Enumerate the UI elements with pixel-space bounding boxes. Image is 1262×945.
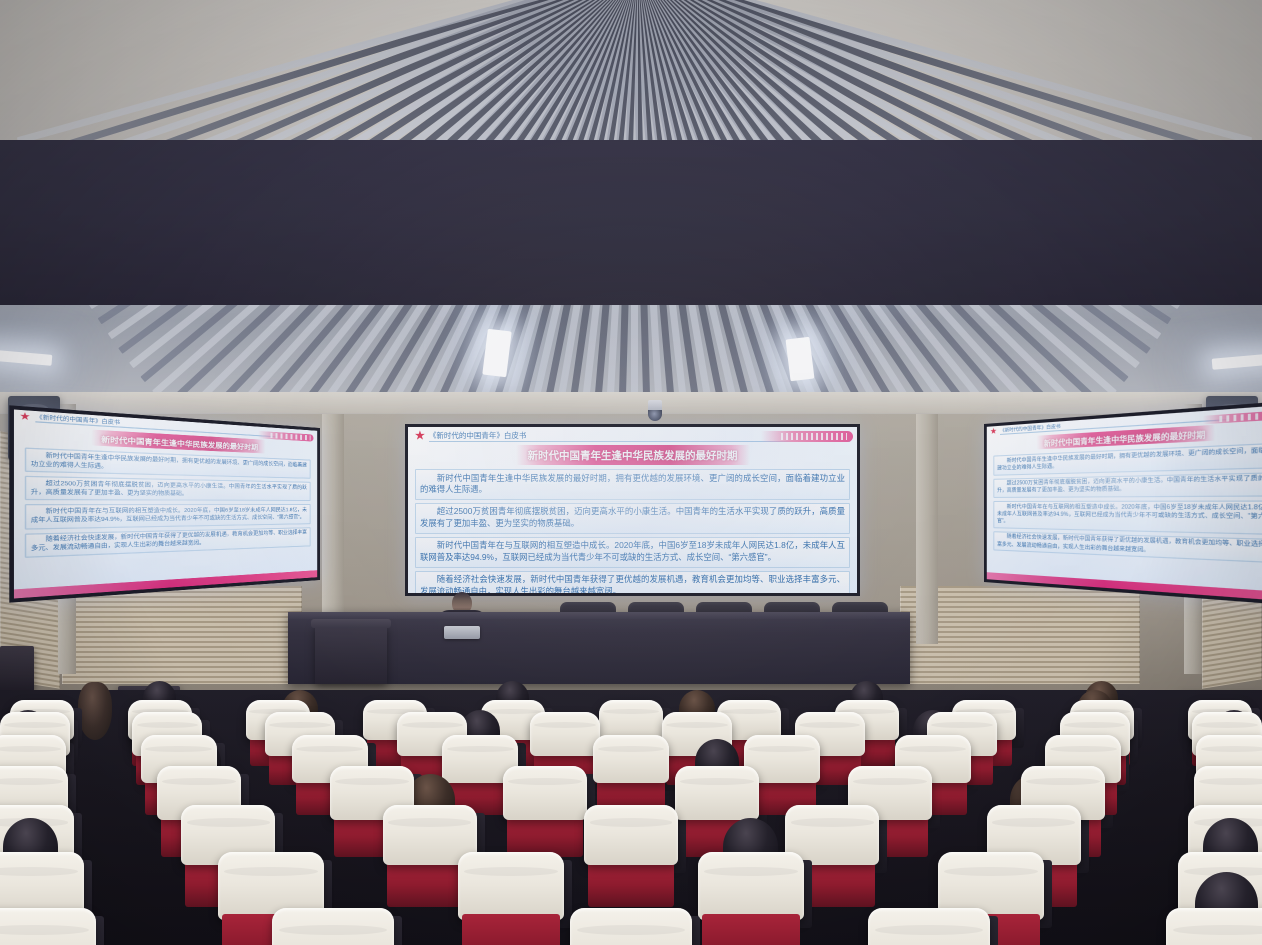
audience-seat[interactable] <box>503 766 587 820</box>
audience-seat[interactable] <box>593 735 669 783</box>
slide-paragraph: 新时代中国青年在与互联网的相互塑造中成长。2020年底，中国6岁至18岁未成年人… <box>25 504 311 529</box>
wall-column-left <box>322 414 344 644</box>
ceiling-light-4 <box>786 337 815 382</box>
wood-wall-panel-left <box>62 586 302 684</box>
slide-content-right: ★ 《新时代的中国青年》白皮书 新时代中国青年生逢中华民族发展的最好时期 新时代… <box>987 405 1262 602</box>
slide-body-left: 新时代中国青年生逢中华民族发展的最好时期，拥有更优越的发展环境、更广阔的成长空间… <box>14 446 317 590</box>
slide-paragraph: 新时代中国青年在与互联网的相互塑造中成长。2020年底，中国6岁至18岁未成年人… <box>993 500 1262 534</box>
slide-content-main: ★ 《新时代的中国青年》白皮书 新时代中国青年生逢中华民族发展的最好时期 新时代… <box>408 427 857 593</box>
left-projection-screen[interactable]: ★ 《新时代的中国青年》白皮书 新时代中国青年生逢中华民族发展的最好时期 新时代… <box>9 405 320 602</box>
audience-seat[interactable] <box>530 712 600 756</box>
main-projection-screen[interactable]: ★ 《新时代的中国青年》白皮书 新时代中国青年生逢中华民族发展的最好时期 新时代… <box>405 424 860 596</box>
wall-cornice <box>0 392 1262 414</box>
slide-paragraph: 超过2500万贫困青年彻底摆脱贫困，迈向更高水平的小康生活。中国青年的生活水平实… <box>25 476 311 501</box>
side-desk-left <box>0 646 34 692</box>
slide-paragraph: 新时代中国青年生逢中华民族发展的最好时期，拥有更优越的发展环境、更广阔的成长空间… <box>25 448 311 479</box>
slide-paragraph: 超过2500万贫困青年彻底摆脱贫困，迈向更高水平的小康生活。中国青年的生活水平实… <box>993 472 1262 498</box>
slide-main-title: 新时代中国青年生逢中华民族发展的最好时期 <box>516 445 750 465</box>
audience-seat[interactable] <box>584 805 678 865</box>
audience-seat[interactable] <box>272 908 394 945</box>
lecture-hall-photo: ★ 《新时代的中国青年》白皮书 新时代中国青年生逢中华民族发展的最好时期 新时代… <box>0 0 1262 945</box>
audience-seat[interactable] <box>868 908 990 945</box>
audience-seat[interactable] <box>675 766 759 820</box>
slide-paragraph: 新时代中国青年生逢中华民族发展的最好时期，拥有更优越的发展环境、更广阔的成长空间… <box>415 469 850 500</box>
slide-body-main: 新时代中国青年生逢中华民族发展的最好时期，拥有更优越的发展环境、更广阔的成长空间… <box>408 468 857 593</box>
slide-paragraph: 新时代中国青年在与互联网的相互塑造中成长。2020年底，中国6岁至18岁未成年人… <box>415 537 850 568</box>
slide-paragraph: 新时代中国青年生逢中华民族发展的最好时期，拥有更优越的发展环境、更广阔的成长空间… <box>993 443 1262 476</box>
seat-base <box>702 914 800 945</box>
slide-paragraph: 随着经济社会快速发展，新时代中国青年获得了更优越的发展机遇，教育机会更加均等、职… <box>25 527 311 558</box>
podium <box>315 624 387 684</box>
seat-base <box>507 814 583 857</box>
ccp-emblem-icon: ★ <box>20 413 30 423</box>
audience-seat[interactable] <box>698 852 804 920</box>
wall-column-right <box>916 414 938 644</box>
presenter-laptop <box>444 626 480 639</box>
ccp-emblem-icon: ★ <box>991 428 997 435</box>
slide-paragraph: 超过2500万贫困青年彻底摆脱贫困，迈向更高水平的小康生活。中国青年的生活水平实… <box>415 503 850 534</box>
slide-paragraph: 随着经济社会快速发展，新时代中国青年获得了更优越的发展机遇，教育机会更加均等、职… <box>993 531 1262 564</box>
attendee-head <box>78 682 112 740</box>
audience-seat[interactable] <box>1166 908 1262 945</box>
audience-seat[interactable] <box>0 908 96 945</box>
slide-ribbon-decoration <box>761 431 853 442</box>
slide-paragraph: 随着经济社会快速发展，新时代中国青年获得了更优越的发展机遇，教育机会更加均等、职… <box>415 571 850 593</box>
audience-seat[interactable] <box>599 700 663 740</box>
seat-base <box>588 859 674 907</box>
ccp-emblem-icon: ★ <box>415 431 425 442</box>
slide-header-main: ★ 《新时代的中国青年》白皮书 <box>408 427 857 443</box>
right-projection-screen[interactable]: ★ 《新时代的中国青年》白皮书 新时代中国青年生逢中华民族发展的最好时期 新时代… <box>984 400 1262 605</box>
seat-base <box>462 914 560 945</box>
slide-body-right: 新时代中国青年生逢中华民族发展的最好时期，拥有更优越的发展环境、更广阔的成长空间… <box>987 441 1262 592</box>
audience-seat[interactable] <box>458 852 564 920</box>
stage-backdrop <box>0 140 1262 305</box>
audience-seat[interactable] <box>570 908 692 945</box>
slide-content-left: ★ 《新时代的中国青年》白皮书 新时代中国青年生逢中华民族发展的最好时期 新时代… <box>14 410 317 599</box>
